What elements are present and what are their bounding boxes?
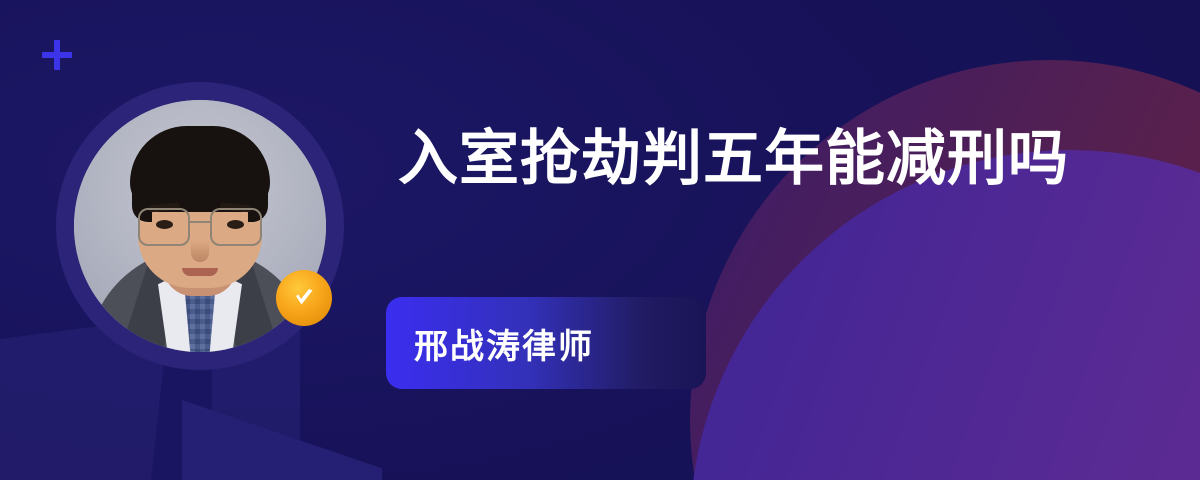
avatar: [56, 82, 344, 370]
glasses-bridge: [188, 221, 212, 223]
glasses-lens-left: [138, 208, 190, 246]
plus-icon: [42, 40, 72, 70]
banner-content: 入室抢劫判五年能减刑吗 邢战涛律师: [392, 0, 1092, 480]
portrait-nose: [191, 240, 209, 262]
lawyer-name-button[interactable]: 邢战涛律师: [386, 297, 706, 389]
glasses-lens-right: [210, 208, 262, 246]
verified-check-icon: [276, 270, 332, 326]
portrait-hair: [130, 126, 270, 212]
portrait-mouth: [182, 268, 218, 276]
lawyer-banner: 入室抢劫判五年能减刑吗 邢战涛律师: [0, 0, 1200, 480]
portrait-glasses: [132, 208, 268, 244]
page-title: 入室抢劫判五年能减刑吗: [398, 126, 1069, 192]
